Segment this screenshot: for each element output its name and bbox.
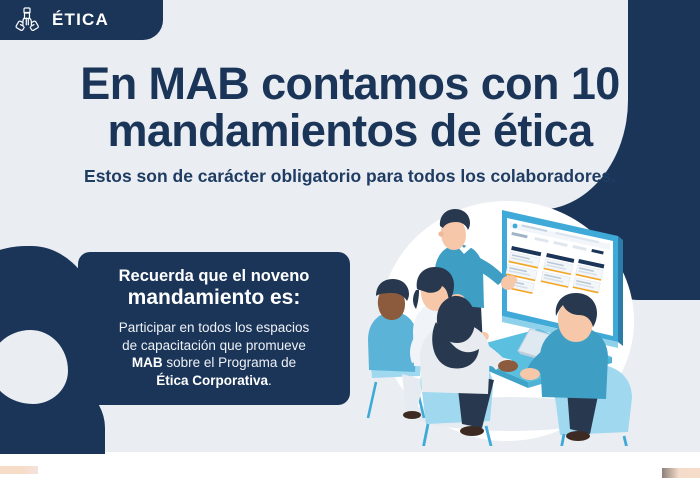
hands-together-icon: [14, 6, 40, 34]
quote-kicker-line-2: mandamiento es:: [94, 286, 334, 310]
team-meeting-illustration: [360, 196, 690, 446]
quote-brand-mab: MAB: [132, 355, 163, 370]
background-bottom-strip: [0, 452, 700, 478]
header-badge-label: ÉTICA: [52, 10, 109, 30]
header-badge: ÉTICA: [0, 0, 163, 40]
quote-body-line-3-rest: sobre el Programa de: [163, 355, 297, 370]
accent-chip-right: [662, 468, 700, 478]
quote-body-line-4-rest: .: [268, 373, 272, 388]
quote-body-line-1: Participar en todos los espacios: [94, 319, 334, 337]
quote-program-name: Ética Corporativa: [156, 373, 268, 388]
quote-kicker-line-1: Recuerda que el noveno: [94, 266, 334, 286]
accent-chip-left: [0, 466, 38, 474]
quote-body-line-4: Ética Corporativa.: [94, 372, 334, 390]
quote-body-line-2: de capacitación que promueve: [94, 337, 334, 355]
quote-body: Participar en todos los espacios de capa…: [94, 319, 334, 389]
quote-card: Recuerda que el noveno mandamiento es: P…: [78, 252, 350, 405]
quote-body-line-3: MAB sobre el Programa de: [94, 354, 334, 372]
poster-canvas: ÉTICA En MAB contamos con 10 mandamiento…: [0, 0, 700, 478]
page-subtitle: Estos son de carácter obligatorio para t…: [0, 166, 700, 187]
